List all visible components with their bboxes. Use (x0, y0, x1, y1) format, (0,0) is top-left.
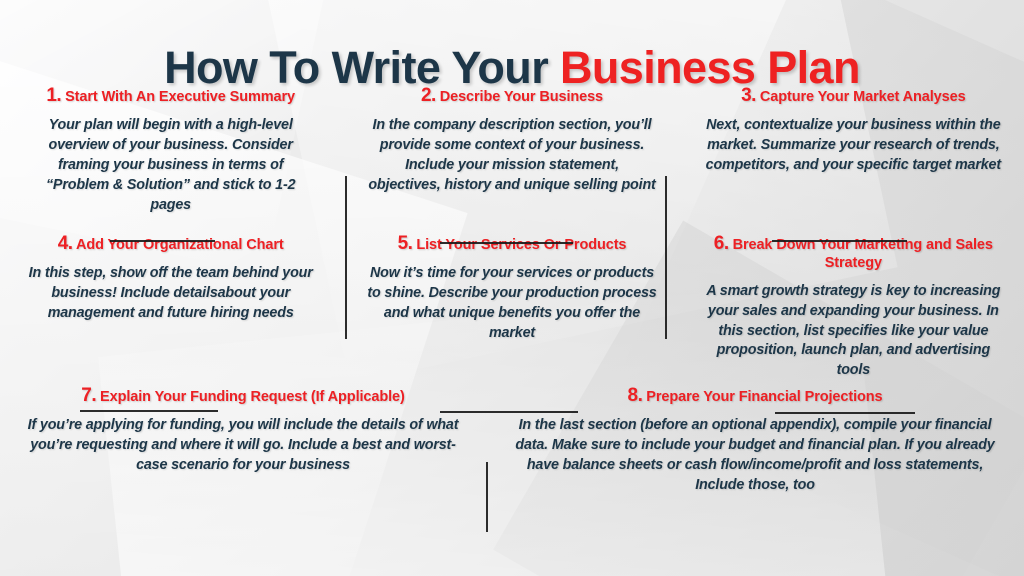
step-6-heading-text: Break Down Your Marketing and Sales Stra… (733, 237, 993, 271)
divider-horizontal (775, 412, 915, 414)
step-1-number: 1. (46, 85, 61, 106)
steps-row-1: 1. Start With An Executive Summary Your … (0, 84, 1024, 232)
step-5-heading-text: List Your Services Or Products (416, 237, 626, 253)
step-5-body: Now it’s time for your services or produ… (351, 264, 672, 343)
step-6-number: 6. (714, 233, 729, 254)
step-6-body: A smart growth strategy is key to increa… (693, 282, 1014, 381)
step-card-4: 4. Add Your Organizational Chart In this… (0, 232, 341, 384)
divider-horizontal (772, 240, 907, 242)
step-4-number: 4. (58, 233, 73, 254)
divider-vertical (486, 462, 488, 532)
step-card-5: 5. List Your Services Or Products Now it… (341, 232, 682, 384)
step-card-2: 2. Describe Your Business In the company… (341, 84, 682, 232)
step-7-heading-text: Explain Your Funding Request (If Applica… (100, 389, 405, 405)
steps-grid: 1. Start With An Executive Summary Your … (0, 84, 1024, 504)
step-4-heading: 4. Add Your Organizational Chart (10, 232, 331, 255)
step-card-1: 1. Start With An Executive Summary Your … (0, 84, 341, 232)
step-3-body: Next, contextualize your business within… (693, 116, 1014, 176)
step-8-number: 8. (628, 385, 643, 406)
step-3-number: 3. (741, 85, 756, 106)
step-2-heading-text: Describe Your Business (440, 89, 603, 105)
divider-horizontal (80, 410, 218, 412)
step-3-heading: 3. Capture Your Market Analyses (693, 84, 1014, 107)
divider-horizontal (440, 242, 573, 244)
infographic-poster: How To Write Your Business Plan 1. Start… (0, 0, 1024, 576)
step-2-number: 2. (421, 85, 436, 106)
step-card-3: 3. Capture Your Market Analyses Next, co… (683, 84, 1024, 232)
step-8-heading: 8. Prepare Your Financial Projections (496, 384, 1014, 407)
step-7-body: If you’re applying for funding, you will… (10, 416, 476, 476)
step-card-7: 7. Explain Your Funding Request (If Appl… (0, 384, 486, 504)
step-4-body: In this step, show off the team behind y… (10, 264, 331, 324)
step-1-heading: 1. Start With An Executive Summary (10, 84, 331, 107)
step-2-heading: 2. Describe Your Business (351, 84, 672, 107)
step-6-heading: 6. Break Down Your Marketing and Sales S… (693, 232, 1014, 273)
step-2-body: In the company description section, you’… (351, 116, 672, 195)
step-8-heading-text: Prepare Your Financial Projections (646, 389, 882, 405)
step-1-body: Your plan will begin with a high-level o… (10, 116, 331, 215)
steps-row-2: 4. Add Your Organizational Chart In this… (0, 232, 1024, 384)
divider-vertical (345, 176, 347, 339)
step-card-6: 6. Break Down Your Marketing and Sales S… (683, 232, 1024, 384)
steps-row-3: 7. Explain Your Funding Request (If Appl… (0, 384, 1024, 504)
divider-horizontal (110, 240, 215, 242)
step-1-heading-text: Start With An Executive Summary (65, 89, 295, 105)
step-8-body: In the last section (before an optional … (496, 416, 1014, 495)
step-card-8: 8. Prepare Your Financial Projections In… (486, 384, 1024, 504)
step-7-heading: 7. Explain Your Funding Request (If Appl… (10, 384, 476, 407)
step-7-number: 7. (81, 385, 96, 406)
step-3-heading-text: Capture Your Market Analyses (760, 89, 966, 105)
step-5-number: 5. (398, 233, 413, 254)
divider-horizontal (440, 411, 578, 413)
divider-vertical (665, 176, 667, 339)
